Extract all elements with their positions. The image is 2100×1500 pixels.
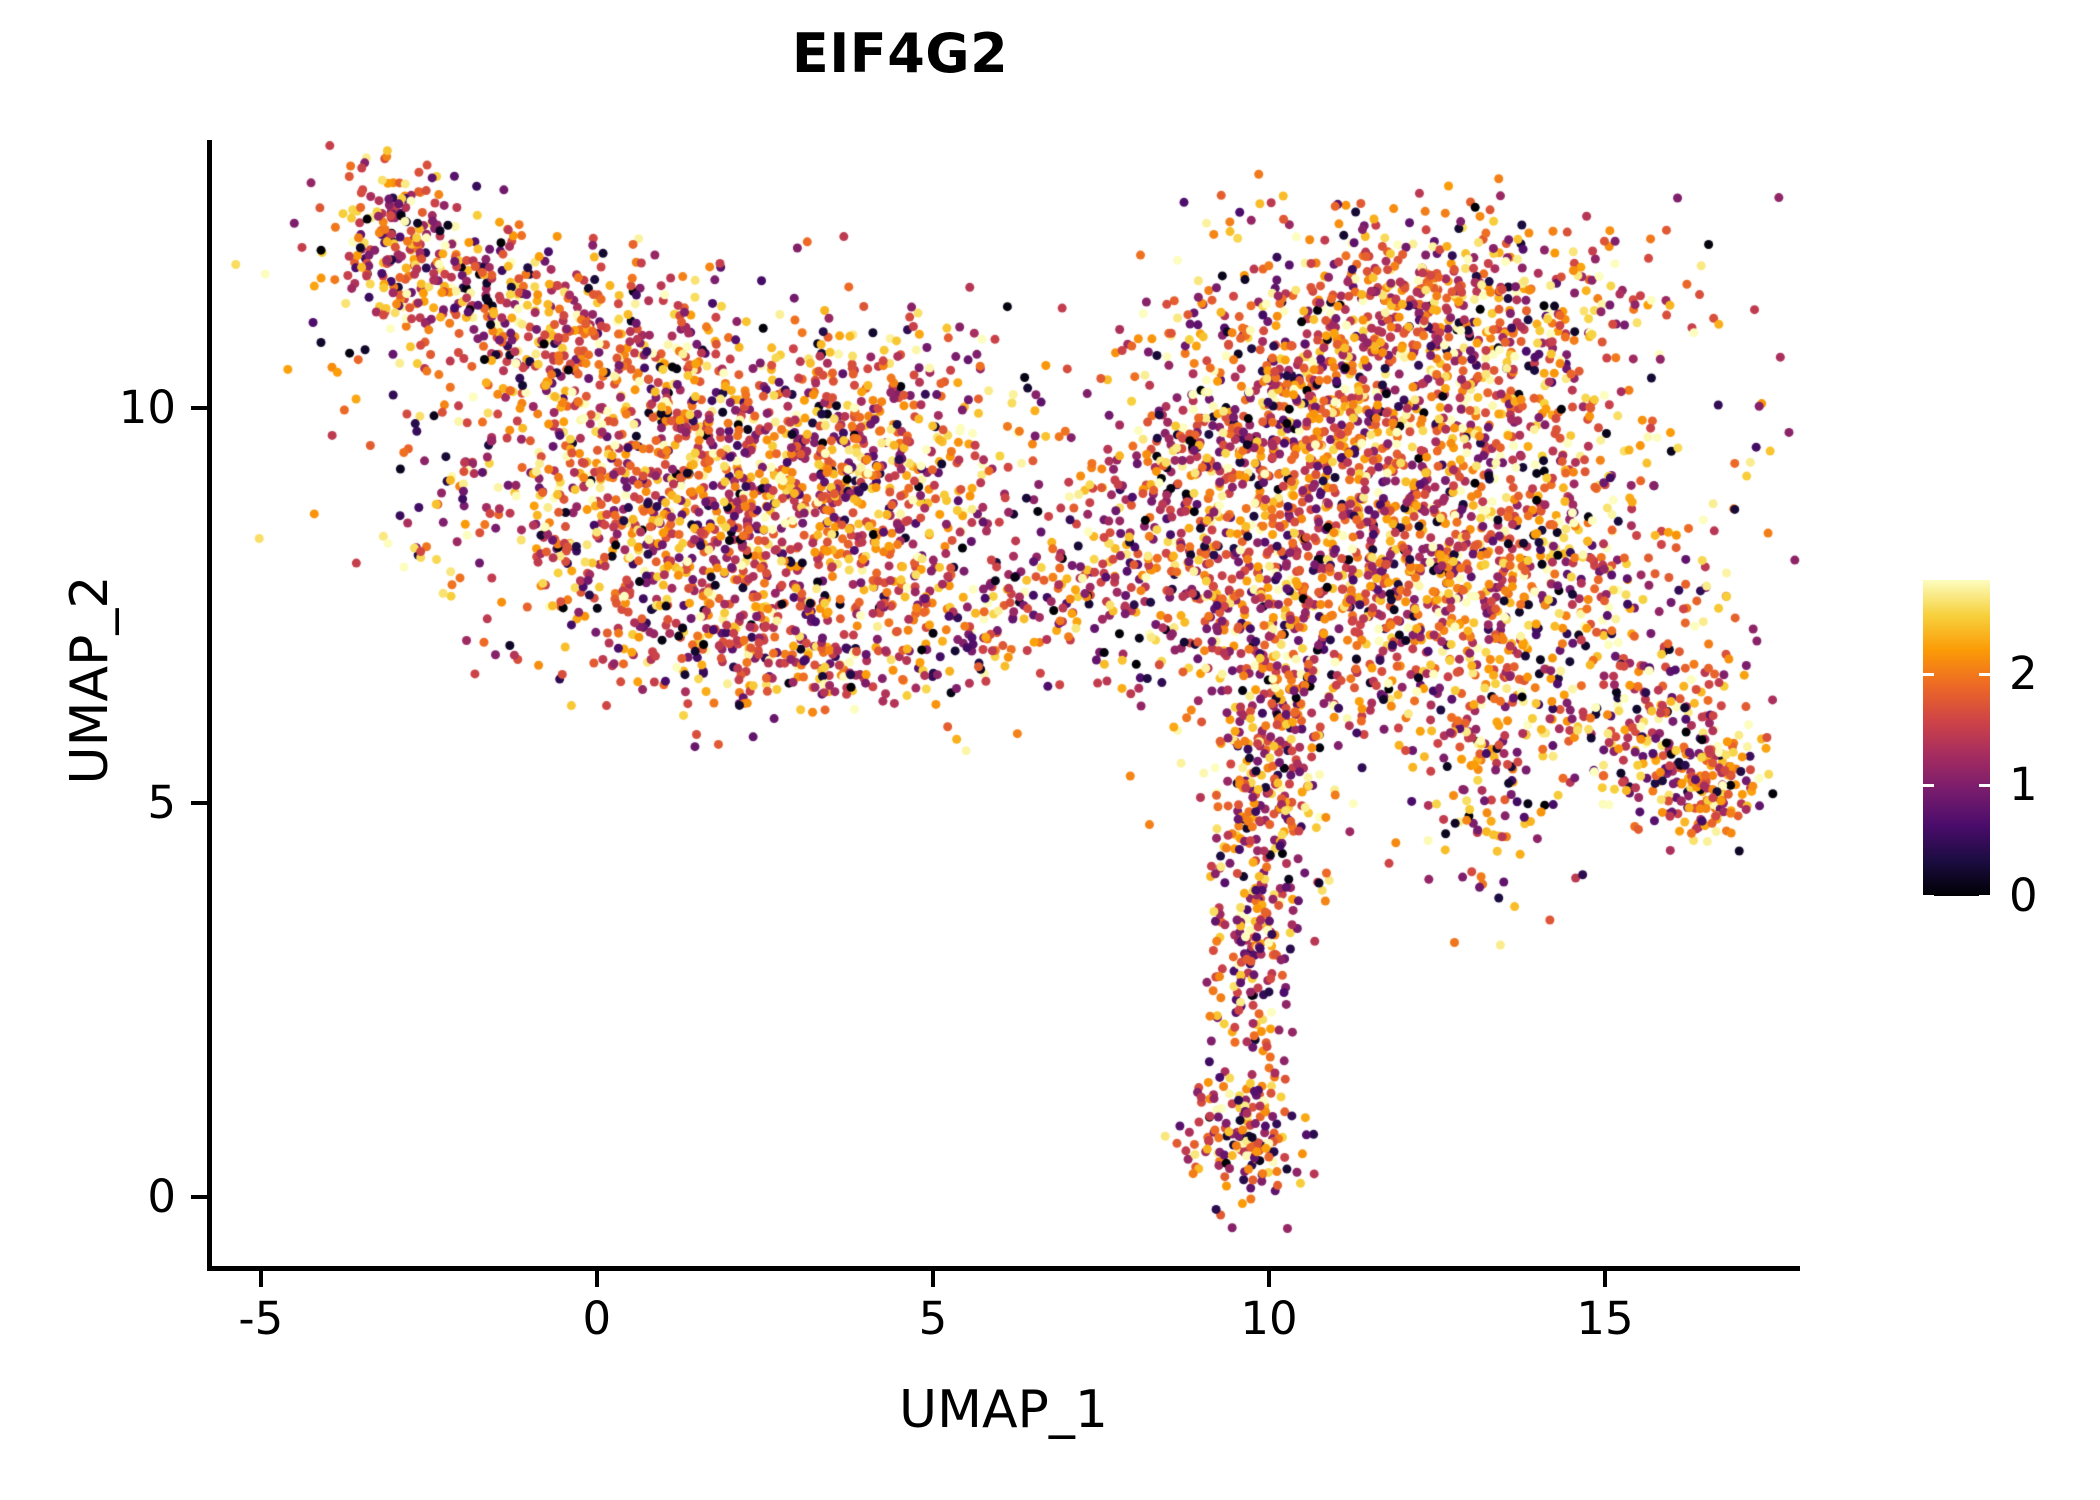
y-tick-label: 0	[0, 1169, 176, 1225]
colorbar[interactable]	[1923, 580, 1990, 896]
y-tick-mark	[191, 801, 207, 805]
colorbar-tick-label: 2	[2009, 646, 2038, 702]
colorbar-tick-mark	[1923, 784, 1934, 787]
colorbar-tick-mark	[1979, 895, 1990, 898]
colorbar-tick-mark	[1979, 673, 1990, 676]
y-tick-mark	[191, 406, 207, 410]
colorbar-tick-label: 0	[2009, 868, 2038, 924]
x-tick-label: 15	[1505, 1291, 1705, 1347]
colorbar-gradient	[1923, 580, 1990, 896]
colorbar-tick-label: 1	[2009, 757, 2038, 813]
x-tick-label: 10	[1169, 1291, 1369, 1347]
x-tick-mark	[1603, 1271, 1607, 1287]
x-tick-label: 5	[833, 1291, 1033, 1347]
scatter-points[interactable]	[207, 140, 1800, 1268]
x-tick-label: 0	[497, 1291, 697, 1347]
y-axis-label: UMAP_2	[60, 280, 120, 1080]
page-title: EIF4G2	[0, 22, 1800, 85]
figure-canvas: EIF4G2 -5051015 0510 UMAP_1 UMAP_2 012	[0, 0, 2100, 1500]
x-axis-label: UMAP_1	[207, 1380, 1800, 1440]
x-tick-mark	[595, 1271, 599, 1287]
x-tick-label: -5	[161, 1291, 361, 1347]
plot-area[interactable]	[207, 140, 1800, 1268]
colorbar-tick-mark	[1923, 673, 1934, 676]
x-tick-mark	[931, 1271, 935, 1287]
y-tick-mark	[191, 1195, 207, 1199]
colorbar-tick-mark	[1979, 784, 1990, 787]
colorbar-tick-mark	[1923, 895, 1934, 898]
x-tick-mark	[259, 1271, 263, 1287]
x-tick-mark	[1267, 1271, 1271, 1287]
